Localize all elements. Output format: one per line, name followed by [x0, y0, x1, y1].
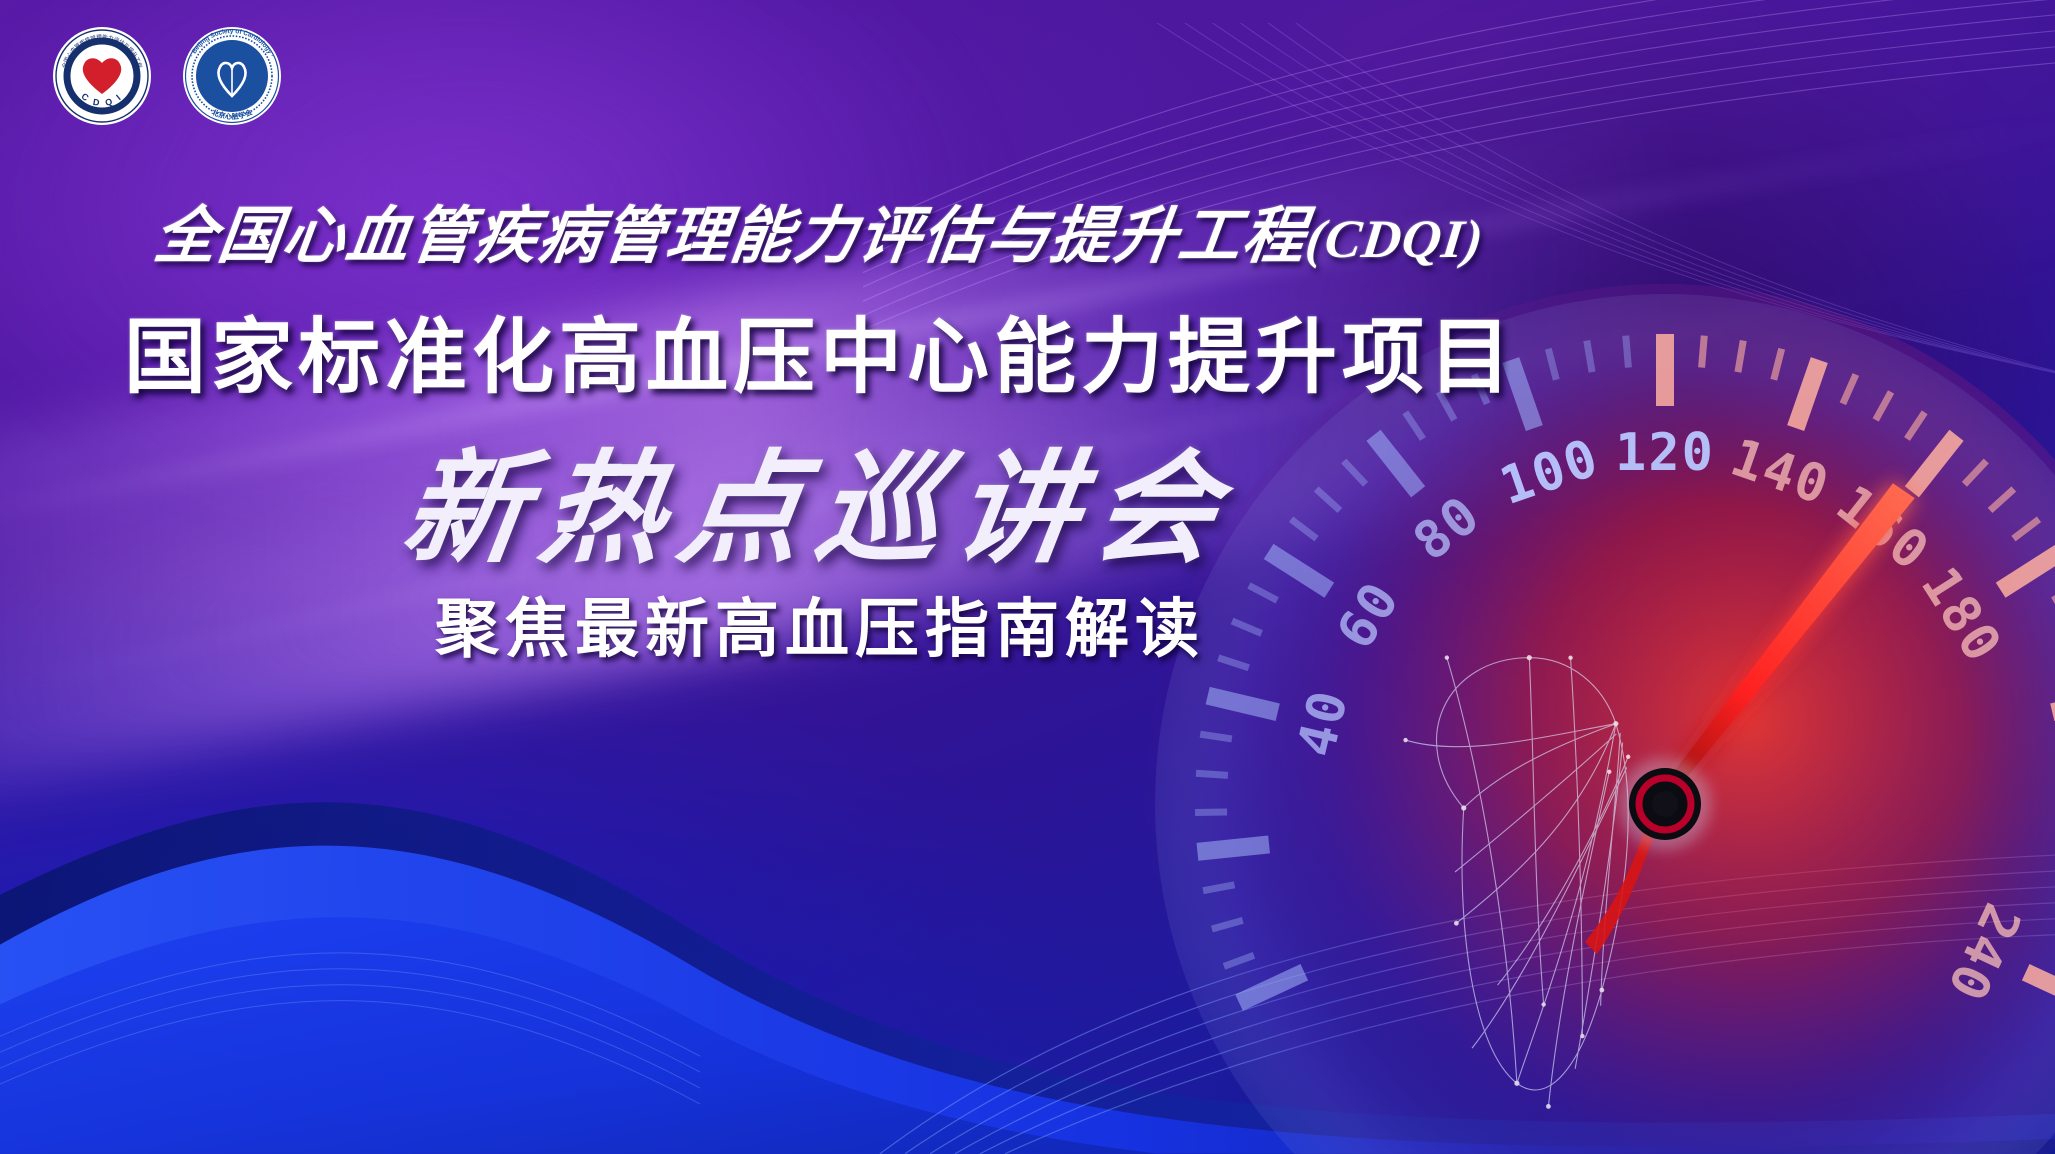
cdqi-logo[interactable]: 全国心血管疾病管理能力评估与提升工程 C D Q I [52, 26, 152, 126]
title-line-4: 聚焦最新高血压指南解读 [0, 578, 1640, 670]
beijing-society-of-cardiology-logo[interactable]: · Beijing Society of Cardiology · 北京心脏学会 [182, 26, 282, 126]
poster-canvas: 406080100120140160180240 [0, 0, 2055, 1154]
title-line-1: 全国心血管疾病管理能力评估与提升工程(CDQI) [0, 185, 1646, 275]
title-line-2: 国家标准化高血压中心能力提升项目 [0, 290, 1640, 409]
title-line-1-text: 全国心血管疾病管理能力评估与提升工程 [150, 203, 1310, 271]
title-line-3: 新热点巡讲会 [0, 410, 1652, 587]
logo-row: 全国心血管疾病管理能力评估与提升工程 C D Q I [52, 26, 282, 126]
title-line-1-acronym: (CDQI) [1303, 209, 1487, 269]
